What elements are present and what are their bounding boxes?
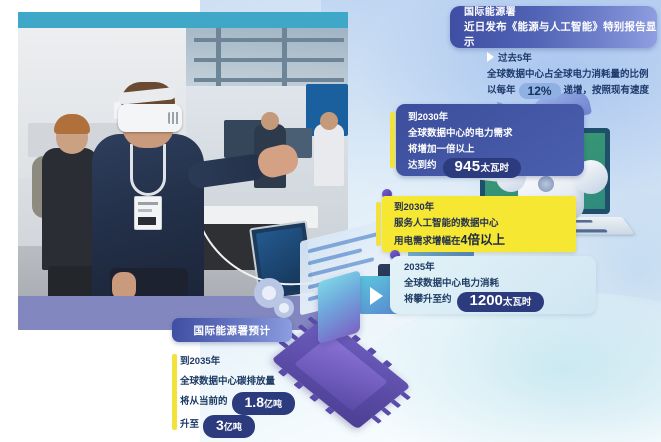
block1-line1-row: 过去5年 (487, 51, 661, 67)
block2-unit: 太瓦时 (480, 163, 509, 174)
stat-block-2030-demand: 到2030年 全球数据中心的电力需求 将增加一倍以上 达到约945太瓦时 (396, 104, 584, 176)
triangle-marker-icon (487, 52, 494, 62)
badge-lanyard (130, 144, 166, 196)
stat-block-2030-ai: 到2030年 服务人工智能的数据中心 用电需求增幅在4倍以上 (382, 196, 576, 252)
infographic-root: 国际能源署 近日发布《能源与人工智能》特别报告显示 过去5年 全球数据中心占全球… (0, 0, 661, 442)
block5-line3-prefix: 将从当前的 (180, 396, 228, 407)
block5-value1-pill: 1.8亿吨 (232, 392, 295, 415)
block2-line4-prefix: 达到约 (408, 160, 437, 171)
block4-line1: 2035年 (404, 260, 596, 276)
block4-line2: 全球数据中心电力消耗 (404, 276, 596, 292)
block5-line1: 到2035年 (180, 352, 380, 372)
block4-line3-row: 将攀升至约1200太瓦时 (404, 292, 596, 312)
robot-chest-light (538, 176, 554, 192)
block5-line4-row: 升至3亿吨 (180, 415, 380, 438)
forecast-title: 国际能源署预计 (194, 323, 271, 338)
block1-line1: 过去5年 (498, 53, 532, 64)
block5-line3-row: 将从当前的1.8亿吨 (180, 392, 380, 415)
block1-line3-suffix: 递增，按照现有速度 (564, 85, 650, 96)
visitor-background-body (42, 148, 98, 270)
block3-line3-prefix: 用电需求增幅在 (394, 236, 461, 247)
tablet-rising-from-chip (318, 270, 360, 344)
block5-unit2: 亿吨 (224, 422, 242, 432)
block5-value2-pill: 3亿吨 (203, 415, 255, 438)
visitor-badge (134, 196, 162, 230)
block2-line3: 将增加一倍以上 (408, 142, 584, 158)
block3-line2: 服务人工智能的数据中心 (394, 216, 576, 232)
yellow-accent-bar (172, 354, 177, 430)
block1-line2: 全球数据中心占全球电力消耗量的比例 (487, 67, 661, 83)
block2-line1: 到2030年 (408, 110, 584, 126)
visitor-suit-head (261, 112, 279, 130)
stat-block-carbon-2035: 到2035年 全球数据中心碳排放量 将从当前的1.8亿吨 升至3亿吨 (180, 352, 380, 438)
gear-icon (274, 298, 294, 318)
report-title-line2: 近日发布《能源与人工智能》特别报告显示 (464, 20, 657, 50)
block1-line3-prefix: 以每年 (487, 85, 516, 96)
block4-value-pill: 1200太瓦时 (457, 292, 545, 312)
block1-line3-row: 以每年12%递增，按照现有速度 (487, 83, 661, 99)
block2-line2: 全球数据中心的电力需求 (408, 126, 584, 142)
block1-highlight-percent: 12% (519, 83, 561, 99)
visitor-white-body (314, 124, 344, 186)
block5-value1: 1.8 (245, 394, 264, 410)
visitor-background-legs (48, 266, 94, 296)
stat-block-past-5-years: 过去5年 全球数据中心占全球电力消耗量的比例 以每年12%递增，按照现有速度 (487, 51, 661, 99)
photo-top-band (18, 12, 348, 28)
visitor-white-head (320, 112, 338, 130)
report-title-line1: 国际能源署 (464, 5, 657, 20)
report-title-banner: 国际能源署 近日发布《能源与人工智能》特别报告显示 (450, 6, 657, 48)
block2-value-pill: 945太瓦时 (443, 158, 521, 178)
forecast-title-banner: 国际能源署预计 (172, 318, 292, 342)
vr-headset-vent (168, 112, 180, 124)
photo-scene (18, 28, 348, 296)
block3-line1: 到2030年 (394, 200, 576, 216)
stat-block-2035-consumption: 2035年 全球数据中心电力消耗 将攀升至约1200太瓦时 (390, 256, 596, 314)
yellow-accent-bar (390, 112, 395, 168)
block3-highlight: 4倍以上 (461, 233, 505, 247)
block3-line3-row: 用电需求增幅在4倍以上 (394, 232, 576, 250)
block5-line4-prefix: 升至 (180, 419, 199, 430)
block5-unit1: 亿吨 (264, 399, 282, 409)
block5-line2: 全球数据中心碳排放量 (180, 372, 380, 392)
block2-line4-row: 达到约945太瓦时 (408, 158, 584, 178)
block2-value: 945 (455, 158, 481, 175)
block4-value: 1200 (470, 292, 503, 309)
photo-vr-exhibition (18, 12, 348, 330)
block4-unit: 太瓦时 (503, 297, 532, 308)
block5-value2: 3 (216, 417, 224, 433)
yellow-accent-bar (376, 202, 381, 246)
block4-line3-prefix: 将攀升至约 (404, 294, 452, 305)
vr-user-hand-left (112, 272, 136, 296)
